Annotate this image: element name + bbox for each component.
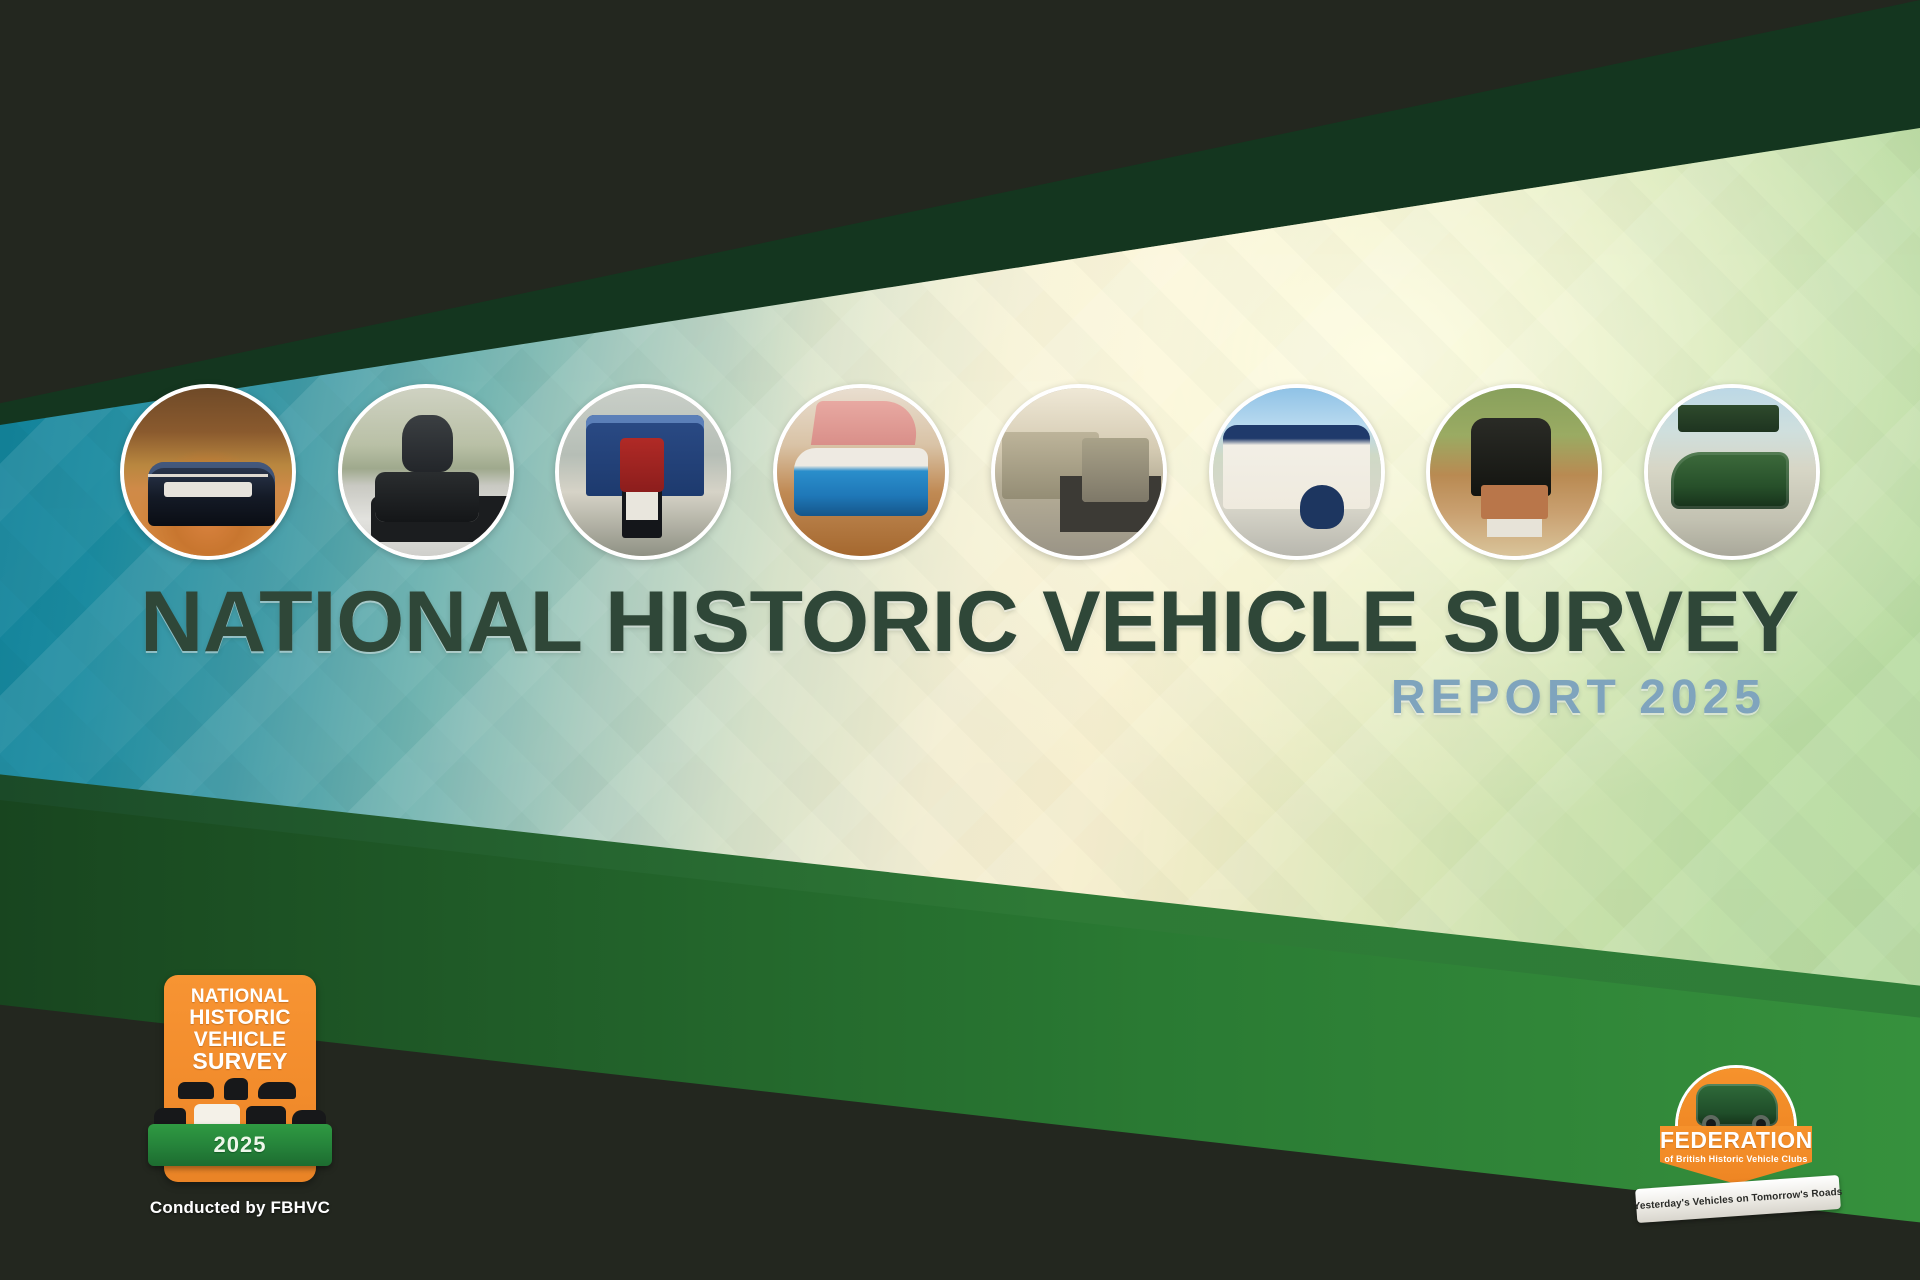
vehicle-circle-steam-traction-engine: Steam traction engine [1644,384,1820,560]
survey-badge-line-2: HISTORIC [172,1007,308,1029]
campervan-photo [777,388,945,556]
car-silhouette-icon [178,1082,214,1099]
vehicle-circle-fire-engine: Vintage fire engine [555,384,731,560]
page-subtitle: REPORT 2025 [140,670,1780,725]
federation-logo-subtitle: of British Historic Vehicle Clubs [1660,1155,1812,1164]
survey-badge-line-4: SURVEY [172,1050,308,1074]
vehicle-circle-campervan: Classic campervan [773,384,949,560]
vehicle-circle-vintage-coach: Vintage coach bus [1209,384,1385,560]
federation-logo-shield: FEDERATION of British Historic Vehicle C… [1660,1126,1812,1184]
vintage-motorcycle-photo [342,388,510,556]
military-truck-photo [995,388,1163,556]
report-cover: Classic sports car Vintage motorcycle ri… [0,0,1920,1280]
vintage-car-icon [1696,1084,1778,1126]
federation-logo-banner: Yesterday's Vehicles on Tomorrow's Roads [1635,1175,1841,1223]
vehicle-circle-vintage-motorcycle: Vintage motorcycle rider [338,384,514,560]
motorcycle-silhouette-icon [224,1078,248,1100]
classic-sports-car-photo [124,388,292,556]
vehicle-circle-military-truck: Military lorry [991,384,1167,560]
fire-engine-photo [559,388,727,556]
survey-badge-line-3: VEHICLE [172,1029,308,1051]
survey-badge-line-1: NATIONAL [172,987,308,1007]
saloon-silhouette-icon [258,1082,296,1099]
vintage-coach-photo [1213,388,1381,556]
vintage-tractor-photo [1430,388,1598,556]
survey-badge-year: 2025 [214,1132,267,1158]
vehicle-photo-strip: Classic sports car Vintage motorcycle ri… [120,382,1820,562]
title-block: NATIONAL HISTORIC VEHICLE SURVEY REPORT … [140,580,1780,725]
survey-badge-caption: Conducted by FBHVC [140,1198,340,1218]
federation-logo-title: FEDERATION [1660,1126,1812,1152]
vehicle-circle-vintage-tractor: Vintage tractor ploughing [1426,384,1602,560]
survey-badge-year-ribbon: 2025 [148,1124,332,1166]
page-title: NATIONAL HISTORIC VEHICLE SURVEY [140,580,1813,664]
federation-logo-strapline: Yesterday's Vehicles on Tomorrow's Roads [1633,1186,1842,1212]
survey-badge-logo: NATIONAL HISTORIC VEHICLE SURVEY 2025 Co… [140,975,340,1218]
vehicle-circle-classic-sports-car: Classic sports car [120,384,296,560]
survey-badge-plate: NATIONAL HISTORIC VEHICLE SURVEY 2025 [164,975,316,1182]
steam-traction-engine-photo [1648,388,1816,556]
federation-logo: FEDERATION of British Historic Vehicle C… [1638,1068,1838,1218]
